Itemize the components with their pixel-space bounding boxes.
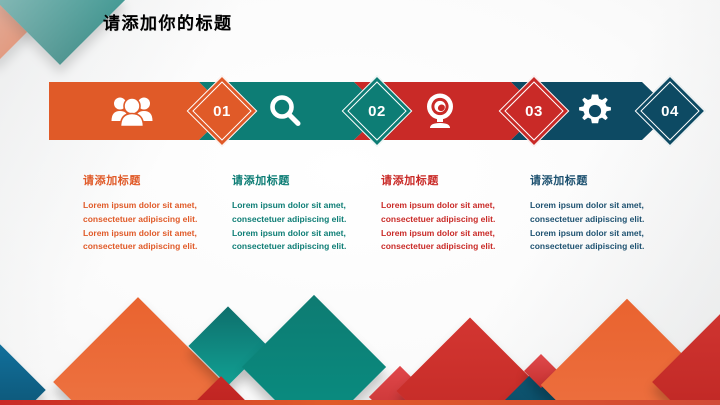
search-icon	[257, 82, 313, 140]
banner-number-02-label: 02	[353, 87, 401, 135]
content-column-4-body: Lorem ipsum dolor sit amet, consectetuer…	[530, 199, 666, 254]
banner-number-03-label: 03	[510, 87, 558, 135]
content-column-3: 请添加标题 Lorem ipsum dolor sit amet, consec…	[381, 172, 517, 254]
content-column-2-body: Lorem ipsum dolor sit amet, consectetuer…	[232, 199, 368, 254]
content-column-1: 请添加标题 Lorem ipsum dolor sit amet, consec…	[83, 172, 219, 254]
banner-number-01-label: 01	[198, 87, 246, 135]
decor-diamond-teal-bottom-large	[242, 295, 386, 405]
content-column-3-heading: 请添加标题	[381, 172, 517, 188]
page-title: 请添加你的标题	[103, 8, 233, 34]
decor-diamond-navy-bottom-1	[0, 336, 46, 405]
content-column-4-heading: 请添加标题	[530, 172, 666, 188]
content-column-4: 请添加标题 Lorem ipsum dolor sit amet, consec…	[530, 172, 666, 254]
bottom-accent-bar	[0, 400, 720, 405]
slide-canvas: 请添加你的标题 01	[0, 0, 720, 405]
content-column-1-heading: 请添加标题	[83, 172, 219, 188]
webcam-icon	[412, 82, 468, 140]
content-column-2: 请添加标题 Lorem ipsum dolor sit amet, consec…	[232, 172, 368, 254]
content-column-2-heading: 请添加标题	[232, 172, 368, 188]
gear-icon	[567, 82, 623, 140]
content-column-3-body: Lorem ipsum dolor sit amet, consectetuer…	[381, 199, 517, 254]
banner-number-04-label: 04	[646, 87, 694, 135]
page-title-text: 请添加你的标题	[103, 9, 233, 34]
process-banner: 01 02 03	[49, 82, 672, 140]
people-icon	[104, 82, 160, 140]
content-column-1-body: Lorem ipsum dolor sit amet, consectetuer…	[83, 199, 219, 254]
